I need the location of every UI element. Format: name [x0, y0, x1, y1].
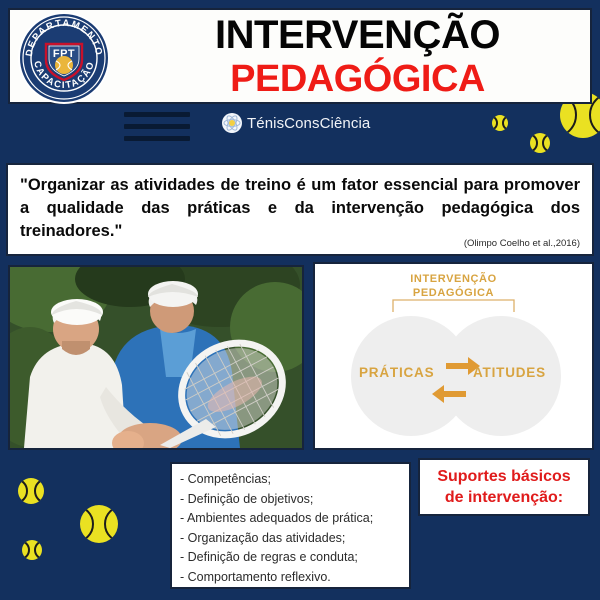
tennis-ball-decoration — [22, 540, 42, 560]
title-line-intervencao: INTERVENÇÃO — [130, 12, 585, 58]
title-line-pedagogica: PEDAGÓGICA — [130, 58, 585, 100]
list-item: - Definição de regras e conduta; — [180, 548, 409, 568]
atom-icon — [222, 113, 242, 133]
supports-list-panel: - Competências; - Definição de objetivos… — [170, 462, 411, 589]
venn-svg — [315, 264, 592, 448]
bracket-path — [393, 300, 514, 312]
logo-svg: DEPARTAMENTO CAPACITAÇÃO FPT — [16, 10, 112, 106]
quote-panel: "Organizar as atividades de treino é um … — [6, 163, 594, 256]
supports-heading-line2: de intervenção: — [445, 487, 563, 508]
hamburger-line — [124, 124, 190, 129]
hamburger-line — [124, 112, 190, 117]
venn-diagram-panel: INTERVENÇÃO PEDAGÓGICA PRÁTICAS ATITUDES — [313, 262, 594, 450]
poster-canvas: INTERVENÇÃO PEDAGÓGICA DEPARTAMENTO CAPA… — [0, 0, 600, 600]
tennis-ball-decoration — [492, 115, 508, 131]
fpt-department-logo: DEPARTAMENTO CAPACITAÇÃO FPT — [16, 10, 112, 106]
venn-label-praticas: PRÁTICAS — [359, 365, 434, 380]
list-item: - Competências; — [180, 470, 409, 490]
hamburger-line — [124, 136, 190, 141]
tennis-ball-decoration — [18, 478, 44, 504]
page-title: INTERVENÇÃO PEDAGÓGICA — [130, 12, 585, 100]
supports-heading-line1: Suportes básicos — [437, 466, 570, 487]
photo-svg — [10, 267, 302, 448]
list-item: - Organização das atividades; — [180, 529, 409, 549]
venn-label-atitudes: ATITUDES — [473, 365, 546, 380]
list-item: - Definição de objetivos; — [180, 490, 409, 510]
supports-heading-box: Suportes básicos de intervenção: — [418, 458, 590, 516]
list-item: - Comportamento reflexivo. — [180, 568, 409, 588]
coach-and-player-photo — [8, 265, 304, 450]
tennis-ball-decoration — [80, 505, 118, 543]
list-item: - Ambientes adequados de prática; — [180, 509, 409, 529]
quote-citation: (Olimpo Coelho et al.,2016) — [464, 238, 580, 249]
quote-text: "Organizar as atividades de treino é um … — [20, 174, 580, 243]
tennis-ball-decoration — [530, 133, 550, 153]
brand-row: TénisConsCiência — [222, 113, 370, 133]
brand-name: TénisConsCiência — [247, 115, 370, 132]
hamburger-icon[interactable] — [124, 112, 190, 148]
